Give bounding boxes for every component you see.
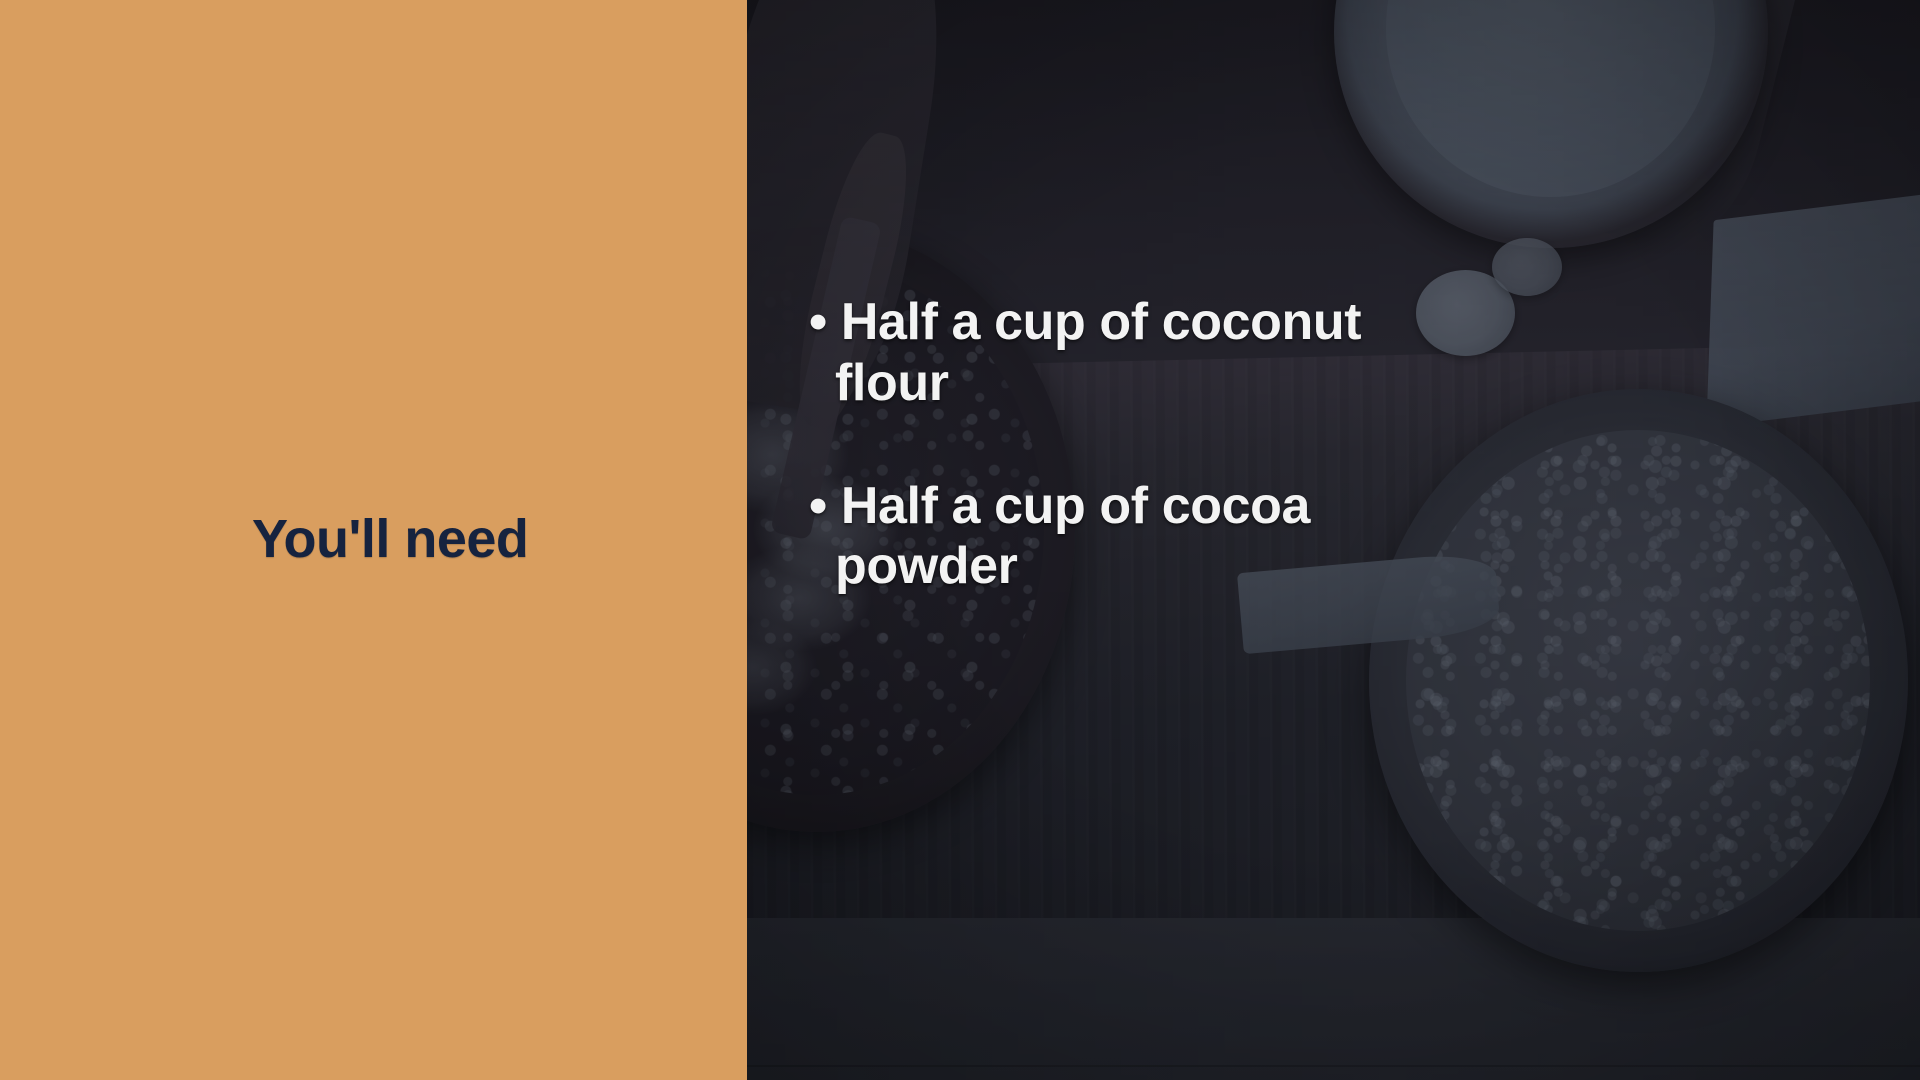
slide: You'll need • Half <box>0 0 1920 1080</box>
list-item: • Half a cup of coconut flour <box>809 292 1449 414</box>
left-title-panel: You'll need <box>0 0 747 1080</box>
page-title: You'll need <box>252 510 528 569</box>
list-item: • Half a cup of cocoa powder <box>809 476 1449 598</box>
right-photo-panel: • Half a cup of coconut flour • Half a c… <box>747 0 1920 1080</box>
ingredient-list: • Half a cup of coconut flour • Half a c… <box>809 292 1449 597</box>
